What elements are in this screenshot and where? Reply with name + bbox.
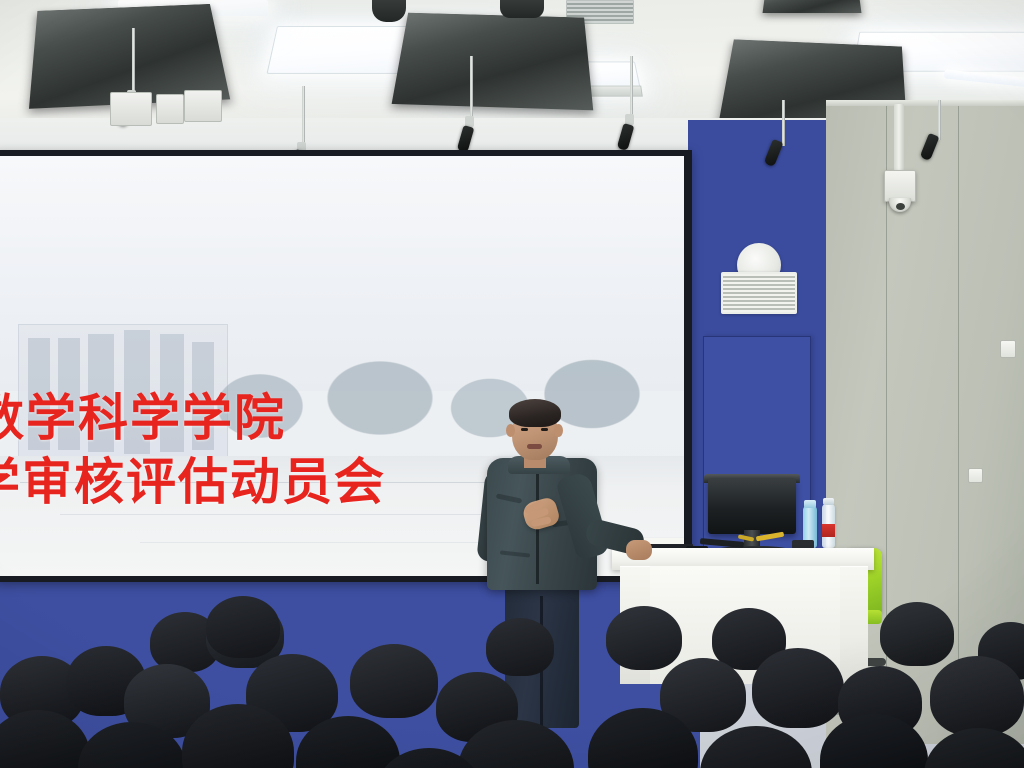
speaker-mouth — [527, 444, 542, 449]
microphone-rod-5 — [782, 100, 785, 146]
hanging-acoustic-panel-4 — [763, 0, 862, 13]
blue-bottle-cap — [804, 500, 816, 508]
audience — [0, 560, 1024, 768]
microphone-rod-3 — [470, 56, 473, 122]
audience-head — [0, 710, 90, 768]
lecture-hall-photo: 数学科学学院 学审核评估动员会 2025年3月16日 — [0, 0, 1024, 768]
clear-bottle-cap — [823, 498, 834, 505]
audience-head — [486, 618, 554, 676]
slide-title-line2: 学审核评估动员会 — [0, 442, 386, 514]
projector-mount-box-2 — [156, 94, 184, 124]
projector-mount-box-3 — [184, 90, 222, 122]
speaker-hair — [509, 399, 561, 427]
audience-head — [700, 726, 812, 768]
microphone-rod-6 — [938, 100, 941, 140]
wall-conduit-pipe — [894, 104, 904, 174]
audience-head — [606, 606, 682, 670]
microphone-rod-4 — [630, 56, 633, 120]
microphone-rod-1 — [132, 28, 135, 94]
speaker-left-ear — [506, 424, 515, 437]
wall-outlet-1[interactable] — [1000, 340, 1016, 358]
audience-head — [924, 728, 1024, 768]
camera-lens-icon — [896, 203, 905, 210]
microphone-rod-2 — [302, 86, 305, 148]
audience-head — [752, 648, 844, 728]
speaker-left-eye — [521, 428, 528, 431]
wall-outlet-2[interactable] — [968, 468, 983, 483]
audience-head — [350, 644, 438, 718]
audience-head — [206, 596, 280, 658]
projector-stub-2 — [500, 0, 544, 18]
slide-title-line1: 数学科学学院 — [0, 378, 286, 450]
speaker-right-ear — [554, 424, 563, 437]
speaker-right-hand — [626, 540, 652, 560]
projector-stub-1 — [372, 0, 406, 22]
projector-mount-box-1 — [110, 92, 152, 126]
wall-air-vent — [721, 272, 797, 314]
wall-top-trim — [826, 100, 1024, 106]
speaker-right-eye — [541, 428, 548, 431]
audience-head — [930, 656, 1024, 736]
computer-monitor[interactable] — [708, 478, 796, 534]
bottle-label — [822, 524, 835, 537]
hanging-acoustic-panel-2 — [392, 13, 594, 111]
audience-head — [880, 602, 954, 666]
